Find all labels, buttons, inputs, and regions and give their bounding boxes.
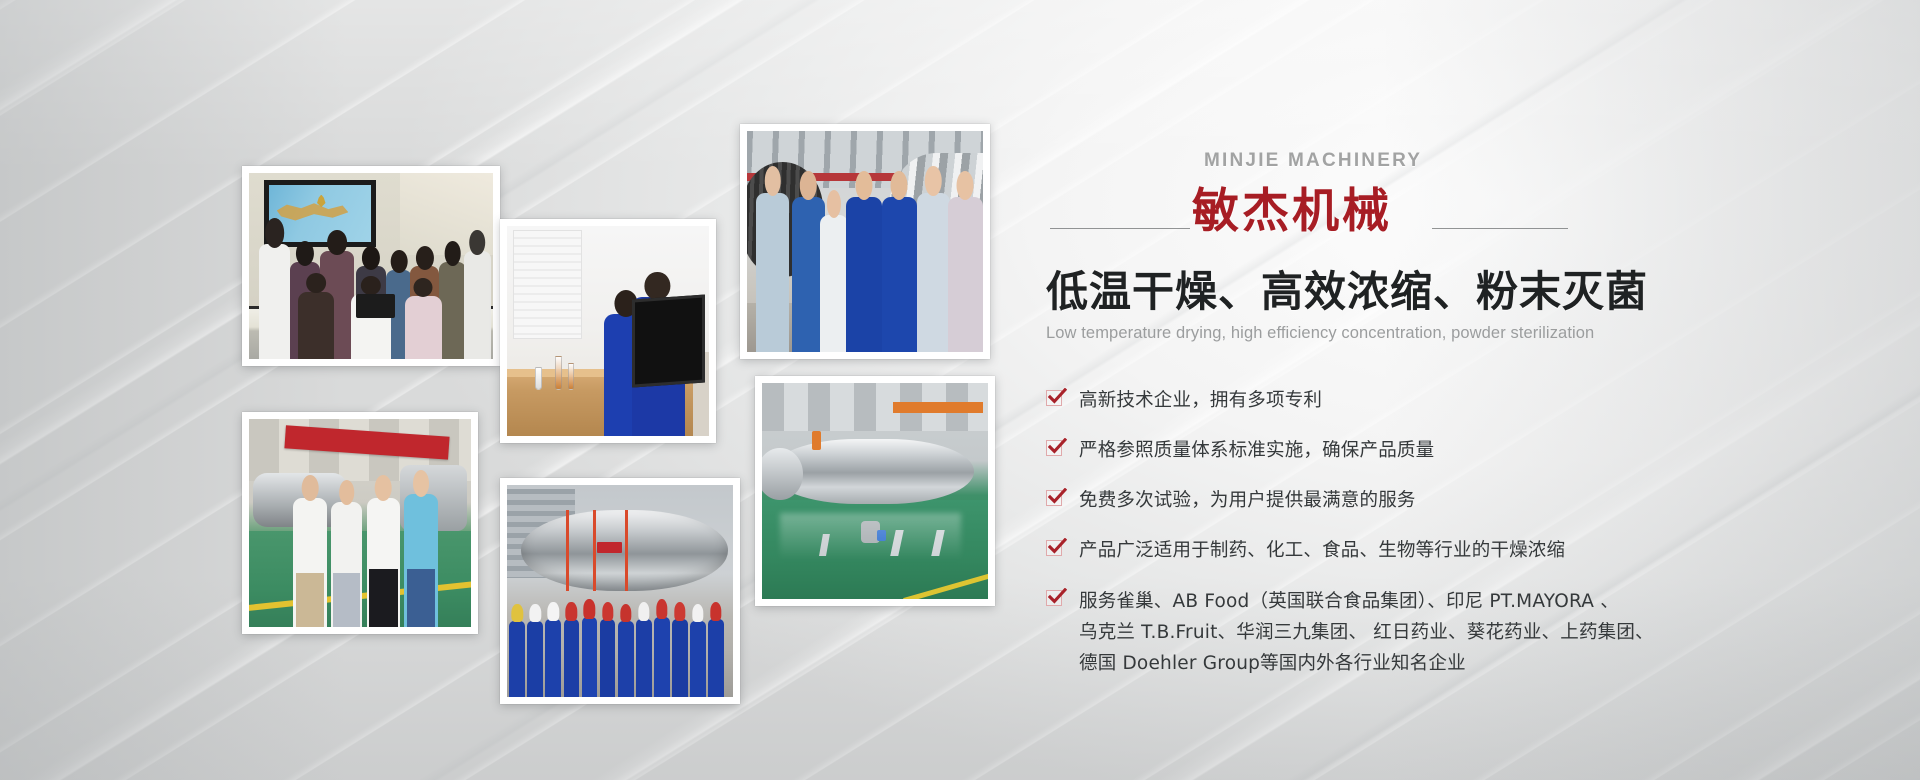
hero-banner: MINJIE MACHINERY 敏杰机械 低温干燥、高效浓缩、粉末灭菌 Low… bbox=[0, 0, 1920, 780]
list-item: 服务雀巢、AB Food（英国联合食品集团）、印尼 PT.MAYORA 、 乌克… bbox=[1046, 586, 1746, 679]
photo-workshop-group bbox=[242, 412, 478, 634]
red-check-icon bbox=[1046, 490, 1062, 506]
red-check-icon bbox=[1046, 440, 1062, 456]
brand-english: MINJIE MACHINERY bbox=[1204, 150, 1422, 172]
list-item-label-line-1: 服务雀巢、AB Food（英国联合食品集团）、印尼 PT.MAYORA 、 bbox=[1079, 586, 1746, 617]
red-check-icon bbox=[1046, 540, 1062, 556]
page-subtitle: Low temperature drying, high efficiency … bbox=[1046, 324, 1746, 343]
list-item: 高新技术企业，拥有多项专利 bbox=[1046, 386, 1746, 416]
photo-meeting-room bbox=[242, 166, 500, 366]
list-item: 严格参照质量体系标准实施，确保产品质量 bbox=[1046, 436, 1746, 466]
page-title: 低温干燥、高效浓缩、粉末灭菌 bbox=[1046, 258, 1746, 319]
photo-vessel-shipment bbox=[500, 478, 740, 704]
feature-list: 高新技术企业，拥有多项专利 严格参照质量体系标准实施，确保产品质量 免费多次试验… bbox=[1046, 386, 1746, 679]
logo-rule-left bbox=[1050, 228, 1190, 229]
photo-factory-delegation bbox=[740, 124, 990, 359]
hero-content: MINJIE MACHINERY 敏杰机械 低温干燥、高效浓缩、粉末灭菌 Low… bbox=[1046, 150, 1746, 679]
list-item-label-line-2: 乌克兰 T.B.Fruit、华润三九集团、 红日药业、葵花药业、上药集团、 bbox=[1079, 617, 1746, 648]
red-check-icon bbox=[1046, 390, 1062, 406]
photo-drying-equipment bbox=[755, 376, 995, 606]
list-item: 产品广泛适用于制药、化工、食品、生物等行业的干燥浓缩 bbox=[1046, 536, 1746, 566]
list-item-label: 高新技术企业，拥有多项专利 bbox=[1079, 386, 1746, 416]
brand-chinese: 敏杰机械 bbox=[1192, 172, 1392, 241]
list-item-label: 产品广泛适用于制药、化工、食品、生物等行业的干燥浓缩 bbox=[1079, 536, 1746, 566]
photo-laboratory bbox=[500, 219, 716, 443]
list-item-label-line-3: 德国 Doehler Group等国内外各行业知名企业 bbox=[1079, 648, 1746, 679]
logo-rule-right bbox=[1432, 228, 1568, 229]
brand-logo: MINJIE MACHINERY 敏杰机械 bbox=[1046, 150, 1746, 246]
list-item: 免费多次试验，为用户提供最满意的服务 bbox=[1046, 486, 1746, 516]
list-item-label: 严格参照质量体系标准实施，确保产品质量 bbox=[1079, 436, 1746, 466]
list-item-label: 免费多次试验，为用户提供最满意的服务 bbox=[1079, 486, 1746, 516]
red-check-icon bbox=[1046, 590, 1062, 606]
